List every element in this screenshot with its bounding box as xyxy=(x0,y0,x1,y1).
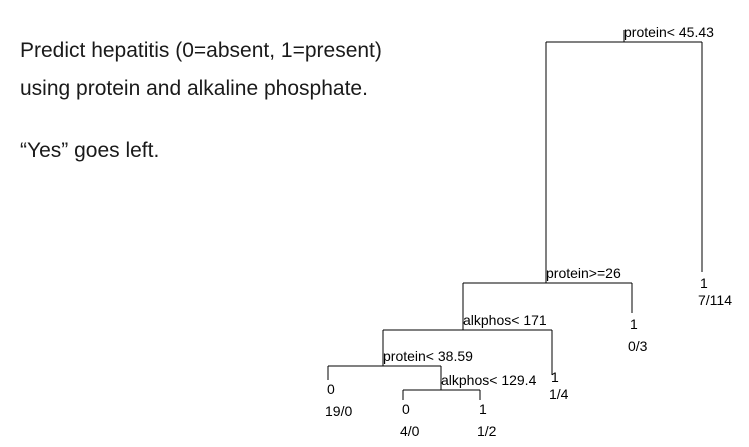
node-label-alkphos-171: alkphos< 171 xyxy=(463,312,547,328)
leaf-class-4-0: 0 xyxy=(402,401,410,417)
leaf-counts-0-3: 0/3 xyxy=(628,338,648,354)
node-label-alkphos-129: alkphos< 129.4 xyxy=(441,372,537,388)
leaf-class-1-2: 1 xyxy=(479,401,487,417)
leaf-class-1-4: 1 xyxy=(551,369,559,385)
node-label-root: protein< 45.43 xyxy=(624,24,714,40)
leaf-counts-1-2: 1/2 xyxy=(477,423,497,439)
slide-canvas: Predict hepatitis (0=absent, 1=present) … xyxy=(0,0,749,447)
leaf-counts-7-114: 7/114 xyxy=(698,292,732,308)
node-label-protein-38: protein< 38.59 xyxy=(383,348,473,364)
tree-branch-alkphos-129 xyxy=(403,390,480,400)
leaf-class-19-0: 0 xyxy=(327,381,335,397)
leaf-class-7-114: 1 xyxy=(700,275,708,291)
leaf-counts-1-4: 1/4 xyxy=(549,386,569,402)
leaf-counts-19-0: 19/0 xyxy=(325,403,352,419)
node-label-protein-26: protein>=26 xyxy=(546,265,621,281)
tree-branch-root xyxy=(546,30,702,283)
tree-branch-protein-38 xyxy=(328,366,441,390)
leaf-class-0-3: 1 xyxy=(630,316,638,332)
decision-tree-plot: protein< 45.43 1 7/114 protein>=26 1 0/3… xyxy=(0,0,749,447)
leaf-counts-4-0: 4/0 xyxy=(400,423,420,439)
